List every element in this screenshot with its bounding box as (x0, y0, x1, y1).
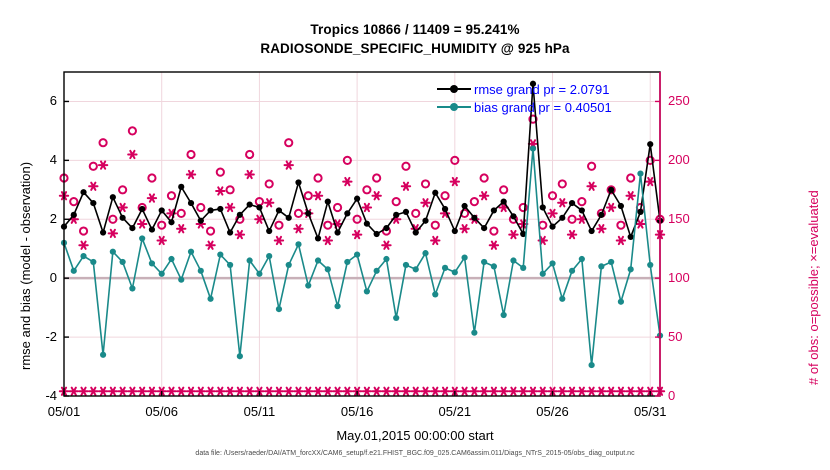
obs-baseline-marker (206, 388, 214, 395)
series-marker-bias (618, 299, 624, 305)
series-marker-bias (217, 252, 223, 258)
obs-baseline-marker (431, 388, 439, 395)
series-marker-bias (325, 266, 331, 272)
obs-evaluated-marker (480, 192, 488, 199)
obs-baseline-marker (79, 388, 87, 395)
obs-baseline-marker (392, 388, 400, 395)
obs-baseline-marker (539, 388, 547, 395)
obs-baseline-marker (441, 388, 449, 395)
series-marker-bias (520, 265, 526, 271)
series-marker-rmse (256, 204, 262, 210)
obs-evaluated-marker (236, 231, 244, 238)
obs-baseline-marker (499, 388, 507, 395)
series-marker-rmse (334, 229, 340, 235)
series-marker-bias (334, 303, 340, 309)
series-marker-rmse (579, 207, 585, 213)
obs-possible-marker (207, 227, 214, 234)
obs-evaluated-marker (245, 171, 253, 178)
obs-evaluated-marker (460, 225, 468, 232)
series-marker-rmse (461, 203, 467, 209)
series-marker-rmse (198, 218, 204, 224)
series-marker-rmse (442, 206, 448, 212)
obs-baseline-marker (275, 388, 283, 395)
series-marker-rmse (129, 225, 135, 231)
obs-possible-marker (422, 180, 429, 187)
series-marker-bias (608, 259, 614, 265)
figure-canvas: Tropics 10866 / 11409 = 95.241% RADIOSON… (0, 0, 830, 470)
obs-evaluated-marker (382, 242, 390, 249)
series-marker-rmse (608, 187, 614, 193)
obs-evaluated-marker (490, 242, 498, 249)
series-marker-rmse (227, 229, 233, 235)
x-tick-label: 05/31 (634, 404, 667, 419)
obs-evaluated-marker (177, 225, 185, 232)
y-tick-label-left: 4 (50, 152, 57, 167)
obs-baseline-marker (99, 388, 107, 395)
series-marker-rmse (618, 203, 624, 209)
obs-baseline-marker (118, 388, 126, 395)
y-tick-label-right: 100 (668, 270, 690, 285)
obs-baseline-marker (597, 388, 605, 395)
series-marker-rmse (432, 190, 438, 196)
obs-possible-marker (334, 204, 341, 211)
series-marker-rmse (188, 200, 194, 206)
series-marker-rmse (149, 226, 155, 232)
series-marker-bias (149, 260, 155, 266)
obs-possible-marker (295, 210, 302, 217)
obs-evaluated-marker (99, 161, 107, 168)
obs-baseline-marker (343, 388, 351, 395)
y-tick-label-right: 0 (668, 388, 675, 403)
x-tick-label: 05/01 (48, 404, 81, 419)
legend-item-rmse[interactable]: rmse grand pr = 2.0791 (437, 80, 669, 98)
y-tick-label-right: 50 (668, 329, 682, 344)
obs-possible-marker (500, 186, 507, 193)
legend-label-rmse: rmse grand pr = 2.0791 (474, 83, 610, 96)
obs-possible-marker (393, 198, 400, 205)
series-marker-bias (168, 256, 174, 262)
series-marker-rmse (178, 184, 184, 190)
series-marker-rmse (237, 212, 243, 218)
obs-baseline-marker (167, 388, 175, 395)
series-marker-rmse (364, 221, 370, 227)
series-marker-bias (178, 277, 184, 283)
series-marker-bias (637, 171, 643, 177)
obs-baseline-marker (558, 388, 566, 395)
series-marker-rmse (139, 206, 145, 212)
obs-possible-marker (246, 151, 253, 158)
obs-evaluated-marker (79, 242, 87, 249)
obs-evaluated-marker (402, 183, 410, 190)
series-marker-bias (266, 253, 272, 259)
obs-evaluated-marker (324, 237, 332, 244)
obs-evaluated-marker (187, 171, 195, 178)
series-marker-bias (569, 268, 575, 274)
obs-possible-marker (559, 180, 566, 187)
obs-evaluated-marker (431, 237, 439, 244)
obs-possible-marker (90, 163, 97, 170)
series-marker-bias (589, 362, 595, 368)
obs-baseline-marker (187, 388, 195, 395)
obs-possible-marker (324, 222, 331, 229)
series-marker-bias (374, 268, 380, 274)
series-marker-rmse (452, 228, 458, 234)
obs-evaluated-marker (89, 183, 97, 190)
obs-possible-marker (168, 192, 175, 199)
obs-baseline-marker (265, 388, 273, 395)
series-marker-rmse (344, 210, 350, 216)
obs-evaluated-marker (568, 231, 576, 238)
obs-baseline-marker (587, 388, 595, 395)
obs-baseline-marker (470, 388, 478, 395)
series-marker-bias (110, 249, 116, 255)
obs-possible-marker (539, 222, 546, 229)
series-marker-bias (481, 259, 487, 265)
obs-baseline-marker (236, 388, 244, 395)
obs-possible-marker (441, 192, 448, 199)
obs-evaluated-marker (285, 161, 293, 168)
obs-possible-marker (578, 198, 585, 205)
plot-area (0, 0, 830, 470)
obs-baseline-marker (333, 388, 341, 395)
series-marker-rmse (207, 207, 213, 213)
obs-evaluated-marker (558, 199, 566, 206)
series-marker-rmse (589, 228, 595, 234)
series-marker-rmse (628, 234, 634, 240)
series-marker-bias (510, 257, 516, 263)
obs-possible-marker (129, 127, 136, 134)
series-marker-bias (540, 271, 546, 277)
obs-possible-marker (305, 192, 312, 199)
obs-baseline-marker (226, 388, 234, 395)
series-marker-rmse (501, 199, 507, 205)
series-marker-bias (598, 263, 604, 269)
series-marker-rmse (305, 210, 311, 216)
series-marker-rmse (354, 196, 360, 202)
series-marker-bias (120, 259, 126, 265)
series-marker-rmse (168, 219, 174, 225)
series-marker-rmse (159, 207, 165, 213)
obs-evaluated-marker (363, 204, 371, 211)
series-marker-rmse (549, 224, 555, 230)
series-marker-rmse (481, 225, 487, 231)
y-tick-label-right: 200 (668, 152, 690, 167)
obs-evaluated-marker (421, 199, 429, 206)
y-tick-label-right: 150 (668, 211, 690, 226)
series-marker-bias (305, 282, 311, 288)
obs-baseline-marker (607, 388, 615, 395)
obs-possible-marker (627, 174, 634, 181)
obs-evaluated-marker (226, 204, 234, 211)
obs-baseline-marker (421, 388, 429, 395)
series-marker-rmse (100, 229, 106, 235)
obs-evaluated-marker (294, 225, 302, 232)
x-tick-label: 05/21 (439, 404, 472, 419)
obs-evaluated-marker (509, 231, 517, 238)
obs-evaluated-marker (314, 192, 322, 199)
series-marker-rmse (286, 215, 292, 221)
x-tick-label: 05/26 (536, 404, 569, 419)
series-marker-rmse (413, 229, 419, 235)
series-marker-rmse (266, 228, 272, 234)
obs-possible-marker (70, 198, 77, 205)
series-marker-rmse (247, 201, 253, 207)
obs-evaluated-marker (216, 187, 224, 194)
obs-possible-marker (226, 186, 233, 193)
obs-baseline-marker (626, 388, 634, 395)
obs-baseline-marker (372, 388, 380, 395)
obs-baseline-marker (294, 388, 302, 395)
obs-evaluated-marker (148, 194, 156, 201)
y-tick-label-left: 0 (50, 270, 57, 285)
series-marker-rmse (325, 199, 331, 205)
obs-possible-marker (481, 174, 488, 181)
obs-possible-marker (178, 210, 185, 217)
legend-item-bias[interactable]: bias grand pr = 0.40501 (437, 98, 669, 116)
obs-possible-marker (266, 180, 273, 187)
obs-baseline-marker (148, 388, 156, 395)
series-marker-bias (393, 315, 399, 321)
series-marker-bias (247, 257, 253, 263)
obs-possible-marker (314, 174, 321, 181)
obs-evaluated-marker (128, 151, 136, 158)
obs-possible-marker (285, 139, 292, 146)
obs-baseline-marker (519, 388, 527, 395)
obs-possible-marker (617, 222, 624, 229)
obs-possible-marker (80, 227, 87, 234)
obs-possible-marker (187, 151, 194, 158)
obs-possible-marker (490, 227, 497, 234)
series-marker-bias (344, 259, 350, 265)
obs-possible-marker (148, 174, 155, 181)
series-marker-rmse (276, 207, 282, 213)
obs-baseline-marker (245, 388, 253, 395)
series-marker-rmse (471, 215, 477, 221)
series-marker-bias (100, 352, 106, 358)
y-tick-label-left: 2 (50, 211, 57, 226)
series-marker-bias (491, 263, 497, 269)
obs-possible-marker (99, 139, 106, 146)
series-marker-rmse (540, 204, 546, 210)
obs-baseline-marker (617, 388, 625, 395)
obs-baseline-marker (285, 388, 293, 395)
obs-evaluated-marker (109, 230, 117, 237)
series-marker-bias (647, 262, 653, 268)
obs-baseline-marker (480, 388, 488, 395)
obs-evaluated-marker (343, 178, 351, 185)
series-marker-bias (413, 266, 419, 272)
series-marker-bias (139, 235, 145, 241)
obs-baseline-marker (568, 388, 576, 395)
obs-evaluated-marker (372, 192, 380, 199)
obs-baseline-marker (314, 388, 322, 395)
series-marker-rmse (559, 215, 565, 221)
series-marker-bias (80, 253, 86, 259)
obs-evaluated-marker (597, 225, 605, 232)
series-marker-bias (90, 259, 96, 265)
obs-baseline-marker (412, 388, 420, 395)
series-marker-bias (295, 241, 301, 247)
series-marker-bias (159, 271, 165, 277)
y-tick-label-right: 250 (668, 93, 690, 108)
legend-swatch-bias (437, 106, 471, 108)
series-marker-rmse (110, 194, 116, 200)
obs-baseline-marker (216, 388, 224, 395)
series-marker-rmse (403, 209, 409, 215)
series-marker-rmse (315, 235, 321, 241)
series-marker-rmse (120, 215, 126, 221)
obs-baseline-marker (363, 388, 371, 395)
legend-swatch-rmse (437, 88, 471, 90)
obs-baseline-marker (89, 388, 97, 395)
series-marker-rmse (71, 212, 77, 218)
series-marker-bias (461, 254, 467, 260)
series-marker-bias (354, 252, 360, 258)
y-tick-label-left: -2 (45, 329, 57, 344)
series-marker-bias (227, 262, 233, 268)
series-marker-bias (188, 249, 194, 255)
obs-possible-marker (217, 169, 224, 176)
series-marker-bias (237, 353, 243, 359)
series-marker-bias (315, 257, 321, 263)
obs-baseline-marker (109, 388, 117, 395)
legend: rmse grand pr = 2.0791 bias grand pr = 0… (437, 80, 669, 116)
obs-evaluated-marker (275, 237, 283, 244)
series-marker-bias (432, 291, 438, 297)
series-marker-bias (256, 271, 262, 277)
y-tick-label-left: 6 (50, 93, 57, 108)
series-marker-bias (422, 250, 428, 256)
series-marker-rmse (217, 206, 223, 212)
series-marker-bias (549, 260, 555, 266)
series-marker-bias (286, 262, 292, 268)
obs-evaluated-marker (587, 183, 595, 190)
series-marker-bias (501, 312, 507, 318)
series-marker-bias (129, 285, 135, 291)
series-marker-rmse (422, 218, 428, 224)
series-marker-bias (403, 262, 409, 268)
obs-baseline-marker (578, 388, 586, 395)
obs-baseline-marker (70, 388, 78, 395)
x-tick-label: 05/11 (244, 404, 276, 419)
obs-possible-marker (432, 222, 439, 229)
obs-baseline-marker (460, 388, 468, 395)
obs-baseline-marker (382, 388, 390, 395)
series-marker-bias (71, 268, 77, 274)
obs-evaluated-marker (626, 192, 634, 199)
legend-label-bias: bias grand pr = 0.40501 (474, 101, 612, 114)
series-marker-rmse (637, 209, 643, 215)
series-marker-bias (530, 145, 536, 151)
obs-baseline-marker (324, 388, 332, 395)
series-marker-rmse (491, 207, 497, 213)
obs-possible-marker (588, 163, 595, 170)
obs-baseline-marker (509, 388, 517, 395)
series-marker-bias (442, 265, 448, 271)
series-marker-rmse (393, 212, 399, 218)
series-marker-rmse (80, 189, 86, 195)
obs-baseline-marker (304, 388, 312, 395)
series-marker-rmse (374, 231, 380, 237)
obs-evaluated-marker (138, 220, 146, 227)
obs-evaluated-marker (607, 204, 615, 211)
obs-evaluated-marker (206, 242, 214, 249)
obs-baseline-marker (402, 388, 410, 395)
series-marker-rmse (647, 141, 653, 147)
series-marker-bias (579, 256, 585, 262)
series-marker-bias (276, 306, 282, 312)
x-tick-label: 05/16 (341, 404, 374, 419)
obs-possible-marker (363, 186, 370, 193)
obs-baseline-marker (138, 388, 146, 395)
obs-possible-marker (119, 186, 126, 193)
series-marker-rmse (383, 225, 389, 231)
obs-baseline-marker (490, 388, 498, 395)
series-marker-rmse (598, 212, 604, 218)
obs-evaluated-marker (265, 199, 273, 206)
series-marker-rmse (295, 179, 301, 185)
series-marker-bias (471, 330, 477, 336)
series-marker-rmse (569, 200, 575, 206)
obs-baseline-marker (636, 388, 644, 395)
obs-possible-marker (373, 174, 380, 181)
series-marker-rmse (90, 200, 96, 206)
obs-possible-marker (471, 198, 478, 205)
series-marker-bias (383, 256, 389, 262)
series-marker-bias (207, 296, 213, 302)
x-tick-label: 05/06 (145, 404, 178, 419)
y-tick-label-left: -4 (45, 388, 57, 403)
obs-possible-marker (197, 204, 204, 211)
series-marker-bias (364, 288, 370, 294)
obs-baseline-marker (529, 388, 537, 395)
obs-evaluated-marker (617, 237, 625, 244)
series-marker-bias (559, 296, 565, 302)
series-marker-bias (452, 269, 458, 275)
series-marker-bias (198, 268, 204, 274)
series-marker-bias (628, 266, 634, 272)
obs-baseline-marker (128, 388, 136, 395)
obs-possible-marker (402, 163, 409, 170)
obs-baseline-marker (177, 388, 185, 395)
obs-possible-marker (412, 210, 419, 217)
obs-baseline-marker (197, 388, 205, 395)
obs-possible-marker (275, 222, 282, 229)
series-marker-rmse (510, 213, 516, 219)
